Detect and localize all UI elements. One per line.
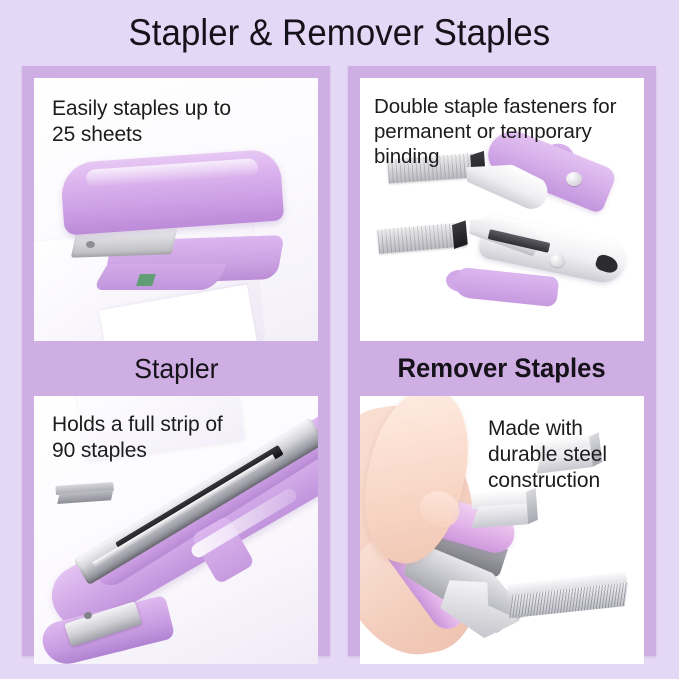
single-staple-icon: [55, 482, 114, 506]
photo-hand-using-remover: Made with durable steel construction: [360, 396, 644, 664]
page-title: Stapler & Remover Staples: [129, 12, 551, 54]
divider-label-remover-staples: Remover Staples: [360, 341, 644, 396]
single-staple-icon: [471, 488, 535, 528]
column-remover-staples: Double staple fasteners for permanent or…: [348, 66, 656, 656]
panel-grid: Easily staples up to 25 sheets Stapler: [22, 66, 657, 656]
caption-bottom-left: Holds a full strip of 90 staples: [52, 412, 223, 464]
product-infographic: Stapler & Remover Staples Easily staples…: [0, 0, 679, 679]
caption-top-left: Easily staples up to 25 sheets: [52, 96, 231, 148]
divider-label-stapler-text: Stapler: [134, 353, 218, 385]
stapler-anvil-pin-icon: [86, 241, 95, 248]
divider-label-remover-staples-text: Remover Staples: [398, 353, 606, 384]
caption-bottom-right: Made with durable steel construction: [488, 416, 607, 493]
stapler-base-front-icon: [92, 264, 227, 290]
column-stapler: Easily staples up to 25 sheets Stapler: [22, 66, 330, 656]
page-title-bar: Stapler & Remover Staples: [0, 0, 679, 66]
remover-pivot-rivet-icon: [550, 254, 565, 267]
photo-stapler-closed: Easily staples up to 25 sheets: [34, 78, 318, 341]
caption-top-right: Double staple fasteners for permanent or…: [374, 94, 616, 170]
divider-label-stapler: Stapler: [34, 341, 318, 396]
photo-stapler-open: Holds a full strip of 90 staples: [34, 396, 318, 664]
remover-pivot-rivet-icon: [566, 172, 582, 186]
photo-staple-remover: Double staple fasteners for permanent or…: [360, 78, 644, 341]
